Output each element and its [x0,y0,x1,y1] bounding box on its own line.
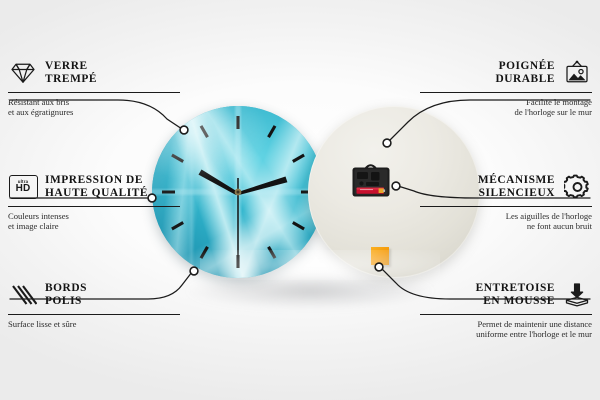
minute-hand [238,177,287,196]
feature-title: POIGNÉE DURABLE [495,60,555,85]
feature-header: ultra HD IMPRESSION DE HAUTE QUALITÉ [8,170,180,204]
feature-description: Résistant aux bris et aux égratignures [8,97,180,118]
feature-title: VERRE TREMPÉ [45,60,97,85]
feature-durable-handle: POIGNÉE DURABLE Facilite le montage de l… [420,56,592,118]
ultra-hd-badge-icon: ultra HD [8,172,38,202]
feature-divider [420,314,592,315]
feature-silent-mechanism: MÉCANISME SILENCIEUX Les aiguilles de l'… [420,170,592,232]
ultra-hd-large-label: HD [16,184,31,194]
hands-center-pin [237,191,240,194]
feature-divider [8,92,180,93]
gear-icon [562,172,592,202]
feature-description: Permet de maintenir une distance uniform… [420,319,592,340]
feature-divider [420,92,592,93]
feature-description: Les aiguilles de l'horloge ne font aucun… [420,211,592,232]
feature-title: ENTRETOISE EN MOUSSE [476,282,555,307]
feature-divider [8,314,180,315]
diamond-icon [8,58,38,88]
feature-description: Surface lisse et sûre [8,319,180,330]
feature-header: BORDS POLIS [8,278,180,312]
hanging-picture-icon [562,58,592,88]
feature-divider [420,206,592,207]
feature-title: BORDS POLIS [45,282,87,307]
feature-header: MÉCANISME SILENCIEUX [420,170,592,204]
feature-header: POIGNÉE DURABLE [420,56,592,90]
feature-description: Couleurs intenses et image claire [8,211,180,232]
feature-foam-spacer: ENTRETOISE EN MOUSSE Permet de maintenir… [420,278,592,340]
feature-divider [8,206,180,207]
feature-title: MÉCANISME SILENCIEUX [478,174,555,199]
mechanism-housing [350,162,392,200]
feature-description: Facilite le montage de l'horloge sur le … [420,97,592,118]
feature-polished-edges: BORDS POLIS Surface lisse et sûre [8,278,180,329]
feature-tempered-glass: VERRE TREMPÉ Résistant aux bris et aux é… [8,56,180,118]
feature-header: VERRE TREMPÉ [8,56,180,90]
diagonal-stripes-icon [8,280,38,310]
foam-spacer-pad [371,247,389,265]
press-down-pad-icon [562,280,592,310]
feature-title: IMPRESSION DE HAUTE QUALITÉ [45,174,148,199]
infographic-canvas: VERRE TREMPÉ Résistant aux bris et aux é… [0,0,600,400]
feature-header: ENTRETOISE EN MOUSSE [420,278,592,312]
hour-hand [199,170,239,196]
feature-print-quality: ultra HD IMPRESSION DE HAUTE QUALITÉ Cou… [8,170,180,232]
